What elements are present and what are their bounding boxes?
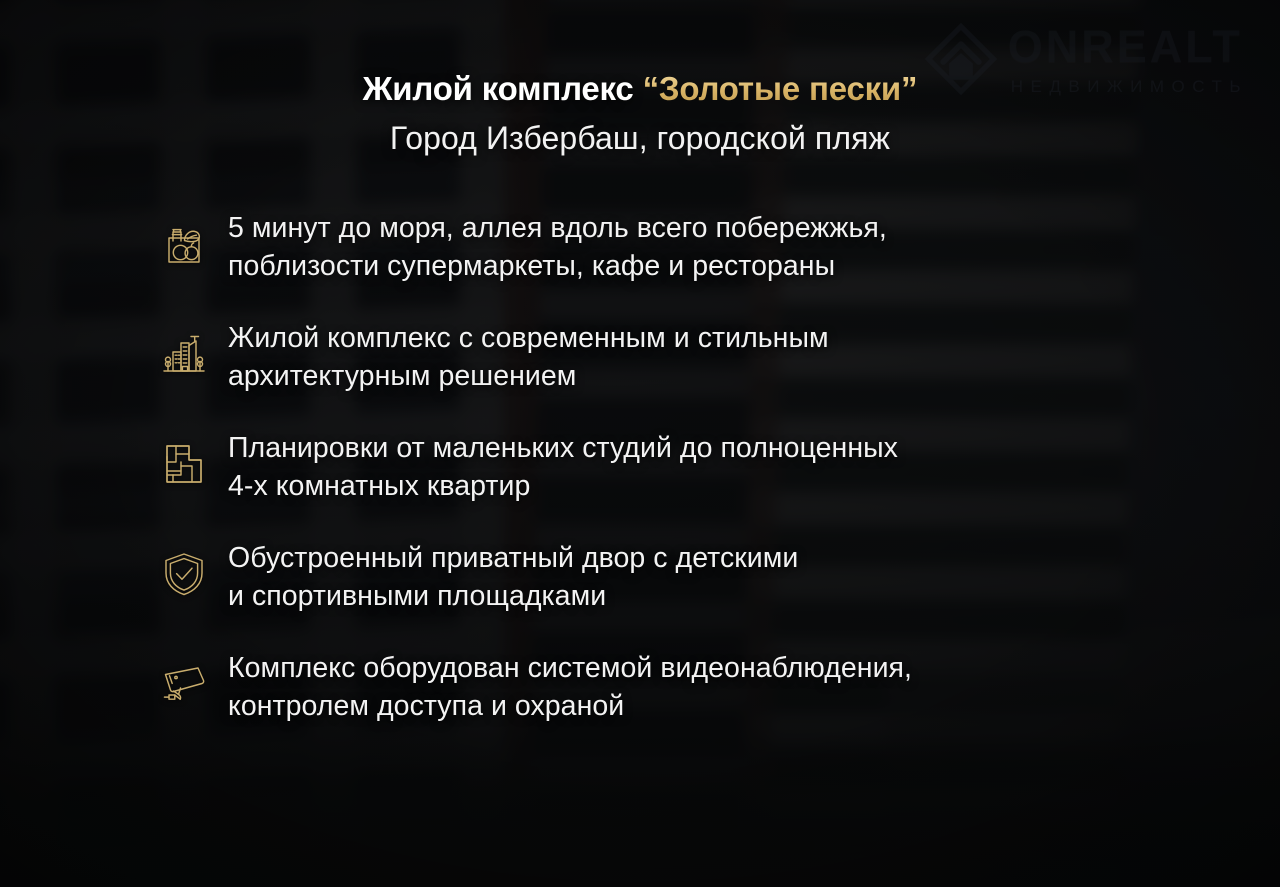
list-item-text: Жилой комплекс с современным и стильным …	[228, 318, 829, 396]
list-item-line: Комплекс оборудован системой видеонаблюд…	[228, 650, 912, 688]
list-item: Планировки от маленьких студий до полноц…	[152, 428, 1220, 520]
feature-list: 5 минут до моря, аллея вдоль всего побер…	[152, 208, 1220, 740]
list-item-line: Жилой комплекс с современным и стильным	[228, 320, 829, 358]
list-item-text: 5 минут до моря, аллея вдоль всего побер…	[228, 208, 887, 286]
cctv-camera-icon	[152, 652, 216, 716]
list-item-line: Планировки от маленьких студий до полноц…	[228, 430, 898, 468]
page-title-accent: “Золотые пески”	[643, 70, 918, 107]
list-item: 5 минут до моря, аллея вдоль всего побер…	[152, 208, 1220, 300]
list-item-line: 4-х комнатных квартир	[228, 468, 898, 506]
list-item-text: Обустроенный приватный двор с детскими и…	[228, 538, 798, 616]
page-subtitle: Город Избербаш, городской пляж	[0, 120, 1280, 157]
list-item-line: архитектурным решением	[228, 358, 829, 396]
list-item-line: Обустроенный приватный двор с детскими	[228, 540, 798, 578]
list-item-line: и спортивными площадками	[228, 578, 798, 616]
page-title-main: Жилой комплекс	[363, 70, 643, 107]
list-item-line: поблизости супермаркеты, кафе и ресторан…	[228, 248, 887, 286]
city-buildings-icon	[152, 322, 216, 386]
list-item: Жилой комплекс с современным и стильным …	[152, 318, 1220, 410]
list-item-text: Комплекс оборудован системой видеонаблюд…	[228, 648, 912, 726]
list-item-line: контролем доступа и охраной	[228, 688, 912, 726]
floor-plan-icon	[152, 432, 216, 496]
grocery-bag-icon	[152, 212, 216, 276]
list-item-text: Планировки от маленьких студий до полноц…	[228, 428, 898, 506]
page-title: Жилой комплекс “Золотые пески”	[0, 70, 1280, 108]
promo-poster: ONREALT НЕДВИЖИМОСТЬ Жилой комплекс “Зол…	[0, 0, 1280, 887]
list-item-line: 5 минут до моря, аллея вдоль всего побер…	[228, 210, 887, 248]
list-item: Комплекс оборудован системой видеонаблюд…	[152, 648, 1220, 740]
list-item: Обустроенный приватный двор с детскими и…	[152, 538, 1220, 630]
shield-check-icon	[152, 542, 216, 606]
